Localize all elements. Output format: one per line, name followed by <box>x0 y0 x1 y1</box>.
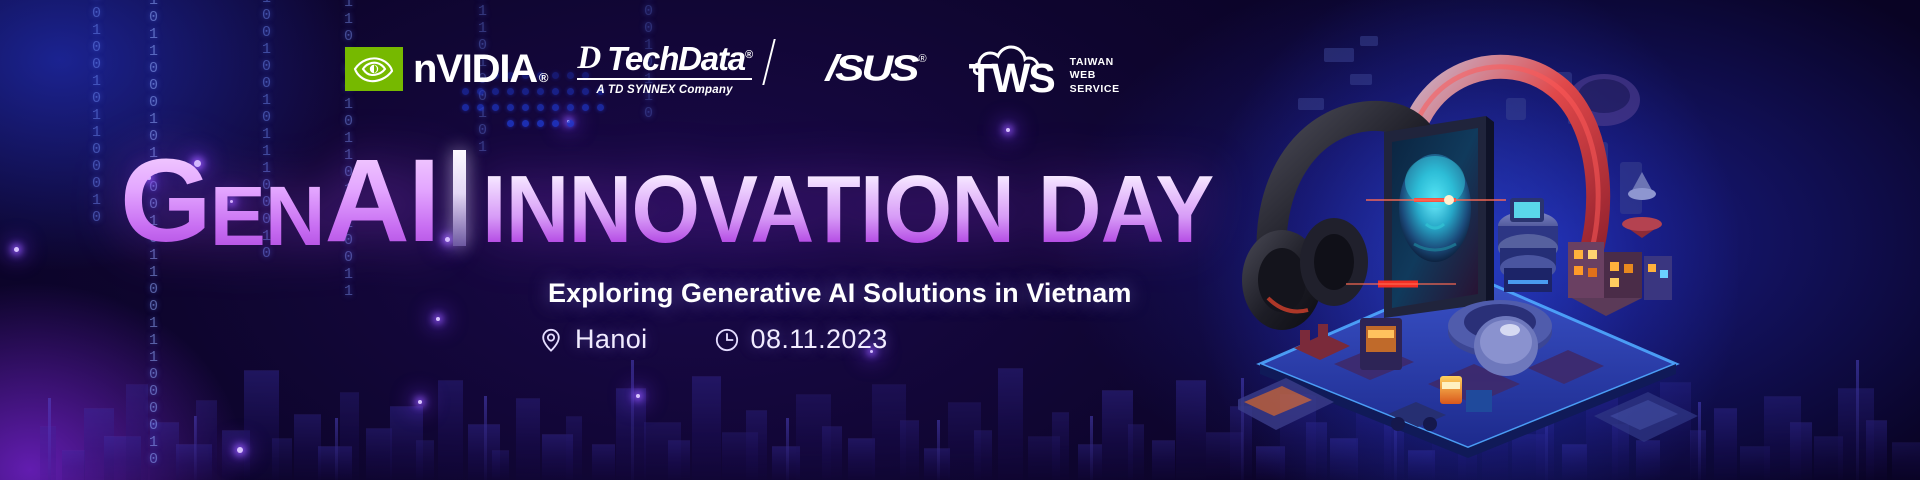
nvidia-wordmark: nVIDIA® <box>413 49 547 89</box>
genai-innovation-day-banner: 00100101100010 1011000101100101100111000… <box>0 0 1920 480</box>
tws-tagline-line: WEB <box>1070 69 1120 82</box>
skyline-building <box>340 392 359 480</box>
skyline-building <box>272 438 292 480</box>
grid-dot <box>582 104 589 111</box>
skyline-building <box>438 380 463 480</box>
genai-g: G <box>120 150 210 254</box>
grid-dot <box>522 120 529 127</box>
skyline-building <box>1052 412 1069 480</box>
nvidia-trademark: ® <box>539 70 547 85</box>
location-label: Hanoi <box>575 324 648 355</box>
skyline-building <box>416 440 434 480</box>
tws-tagline-line: TAIWAN <box>1070 56 1120 69</box>
tws-mark: TWS <box>971 41 1063 97</box>
grid-dot <box>552 120 559 127</box>
nvidia-logo: nVIDIA® <box>345 47 547 91</box>
skyline-building <box>492 450 509 480</box>
partner-logo-row: nVIDIA® D TechData® A TD SYNNEX Company … <box>345 38 1120 100</box>
vertical-divider <box>453 150 466 246</box>
skyline-building <box>1892 442 1920 480</box>
techdata-underline <box>577 78 751 80</box>
skyline-spire <box>48 398 51 480</box>
event-location: Hanoi <box>538 324 648 355</box>
grid-dot <box>492 104 499 111</box>
techdata-logo: D TechData® A TD SYNNEX Company <box>577 42 769 96</box>
genai-en: EN <box>210 180 325 254</box>
skyline-spire <box>1856 360 1859 480</box>
skyline-building <box>668 440 690 480</box>
skyline-spire <box>1090 416 1093 480</box>
skyline-building <box>692 376 721 480</box>
artwork-svg <box>1238 12 1698 472</box>
grid-dot <box>507 104 514 111</box>
genai-logotype: G EN AI <box>120 150 439 254</box>
techdata-slash-rule <box>762 39 775 85</box>
skyline-building <box>1128 424 1144 480</box>
event-meta-row: Hanoi 08.11.2023 <box>538 324 888 355</box>
event-title: INNOVATION DAY <box>482 166 1213 254</box>
skyline-building <box>1790 422 1812 480</box>
tws-logo: TWS TAIWAN WEB SERVICE <box>971 41 1120 97</box>
event-date: 08.11.2023 <box>714 324 888 355</box>
skyline-building <box>822 426 842 480</box>
nvidia-wordmark-text: nVIDIA <box>413 47 537 91</box>
binary-stream: 00100101100010 <box>88 0 104 138</box>
skyline-building <box>848 438 875 480</box>
techdata-trademark: ® <box>745 49 752 61</box>
glow-spark <box>436 317 440 321</box>
skyline-building <box>998 368 1023 480</box>
skyline-building <box>592 444 615 480</box>
headline-block: G EN AI INNOVATION DAY <box>120 150 1276 254</box>
asus-trademark: ® <box>919 53 927 65</box>
clock-icon <box>714 327 740 353</box>
glow-spark <box>14 247 19 252</box>
skyline-building <box>516 398 540 480</box>
event-subtitle: Exploring Generative AI Solutions in Vie… <box>548 278 1132 309</box>
glow-spark <box>237 447 243 453</box>
skyline-building <box>196 400 217 480</box>
skyline-building <box>366 428 392 480</box>
skyline-building <box>974 430 992 480</box>
grid-dot <box>537 104 544 111</box>
skyline-building <box>1866 420 1887 480</box>
skyline-spire <box>786 418 789 480</box>
skyline-building <box>746 410 767 480</box>
grid-dot <box>567 104 574 111</box>
skyline-building <box>566 416 582 480</box>
grid-dot <box>522 104 529 111</box>
genai-ai: AI <box>325 150 439 254</box>
grid-dot <box>462 104 469 111</box>
glow-spark <box>1006 128 1010 132</box>
grid-dot <box>537 120 544 127</box>
skyline-spire <box>484 396 487 480</box>
glow-spark <box>636 394 640 398</box>
grid-dot <box>567 120 574 127</box>
grid-dot <box>477 104 484 111</box>
date-label: 08.11.2023 <box>751 324 888 355</box>
tws-wordmark: TWS <box>969 58 1054 99</box>
location-pin-icon <box>538 327 564 353</box>
grid-dot <box>552 104 559 111</box>
glow-spark <box>418 400 422 404</box>
tws-tagline: TAIWAN WEB SERVICE <box>1070 56 1120 96</box>
techdata-tagline: A TD SYNNEX Company <box>577 84 751 96</box>
grid-dot <box>597 104 604 111</box>
asus-logo: /SUS ® <box>826 47 927 91</box>
skyline-building <box>1152 440 1175 480</box>
techdata-wordmark-row: D TechData® <box>577 42 751 75</box>
skyline-spire <box>937 420 940 480</box>
skyline-spire <box>631 360 634 480</box>
skyline-building <box>900 420 919 480</box>
techdata-wordmark: TechData® <box>607 42 752 75</box>
tws-tagline-line: SERVICE <box>1070 83 1120 96</box>
nvidia-eye-icon <box>345 47 403 91</box>
grid-dot <box>507 120 514 127</box>
skyline-building <box>62 450 85 480</box>
asus-wordmark: /SUS <box>826 51 917 87</box>
techdata-wordmark-text: TechData <box>607 40 745 77</box>
skyline-spire <box>335 418 338 480</box>
skyline-building <box>294 414 321 480</box>
isometric-ai-city-illustration <box>1238 12 1698 472</box>
techdata-d-monogram: D <box>577 42 600 75</box>
